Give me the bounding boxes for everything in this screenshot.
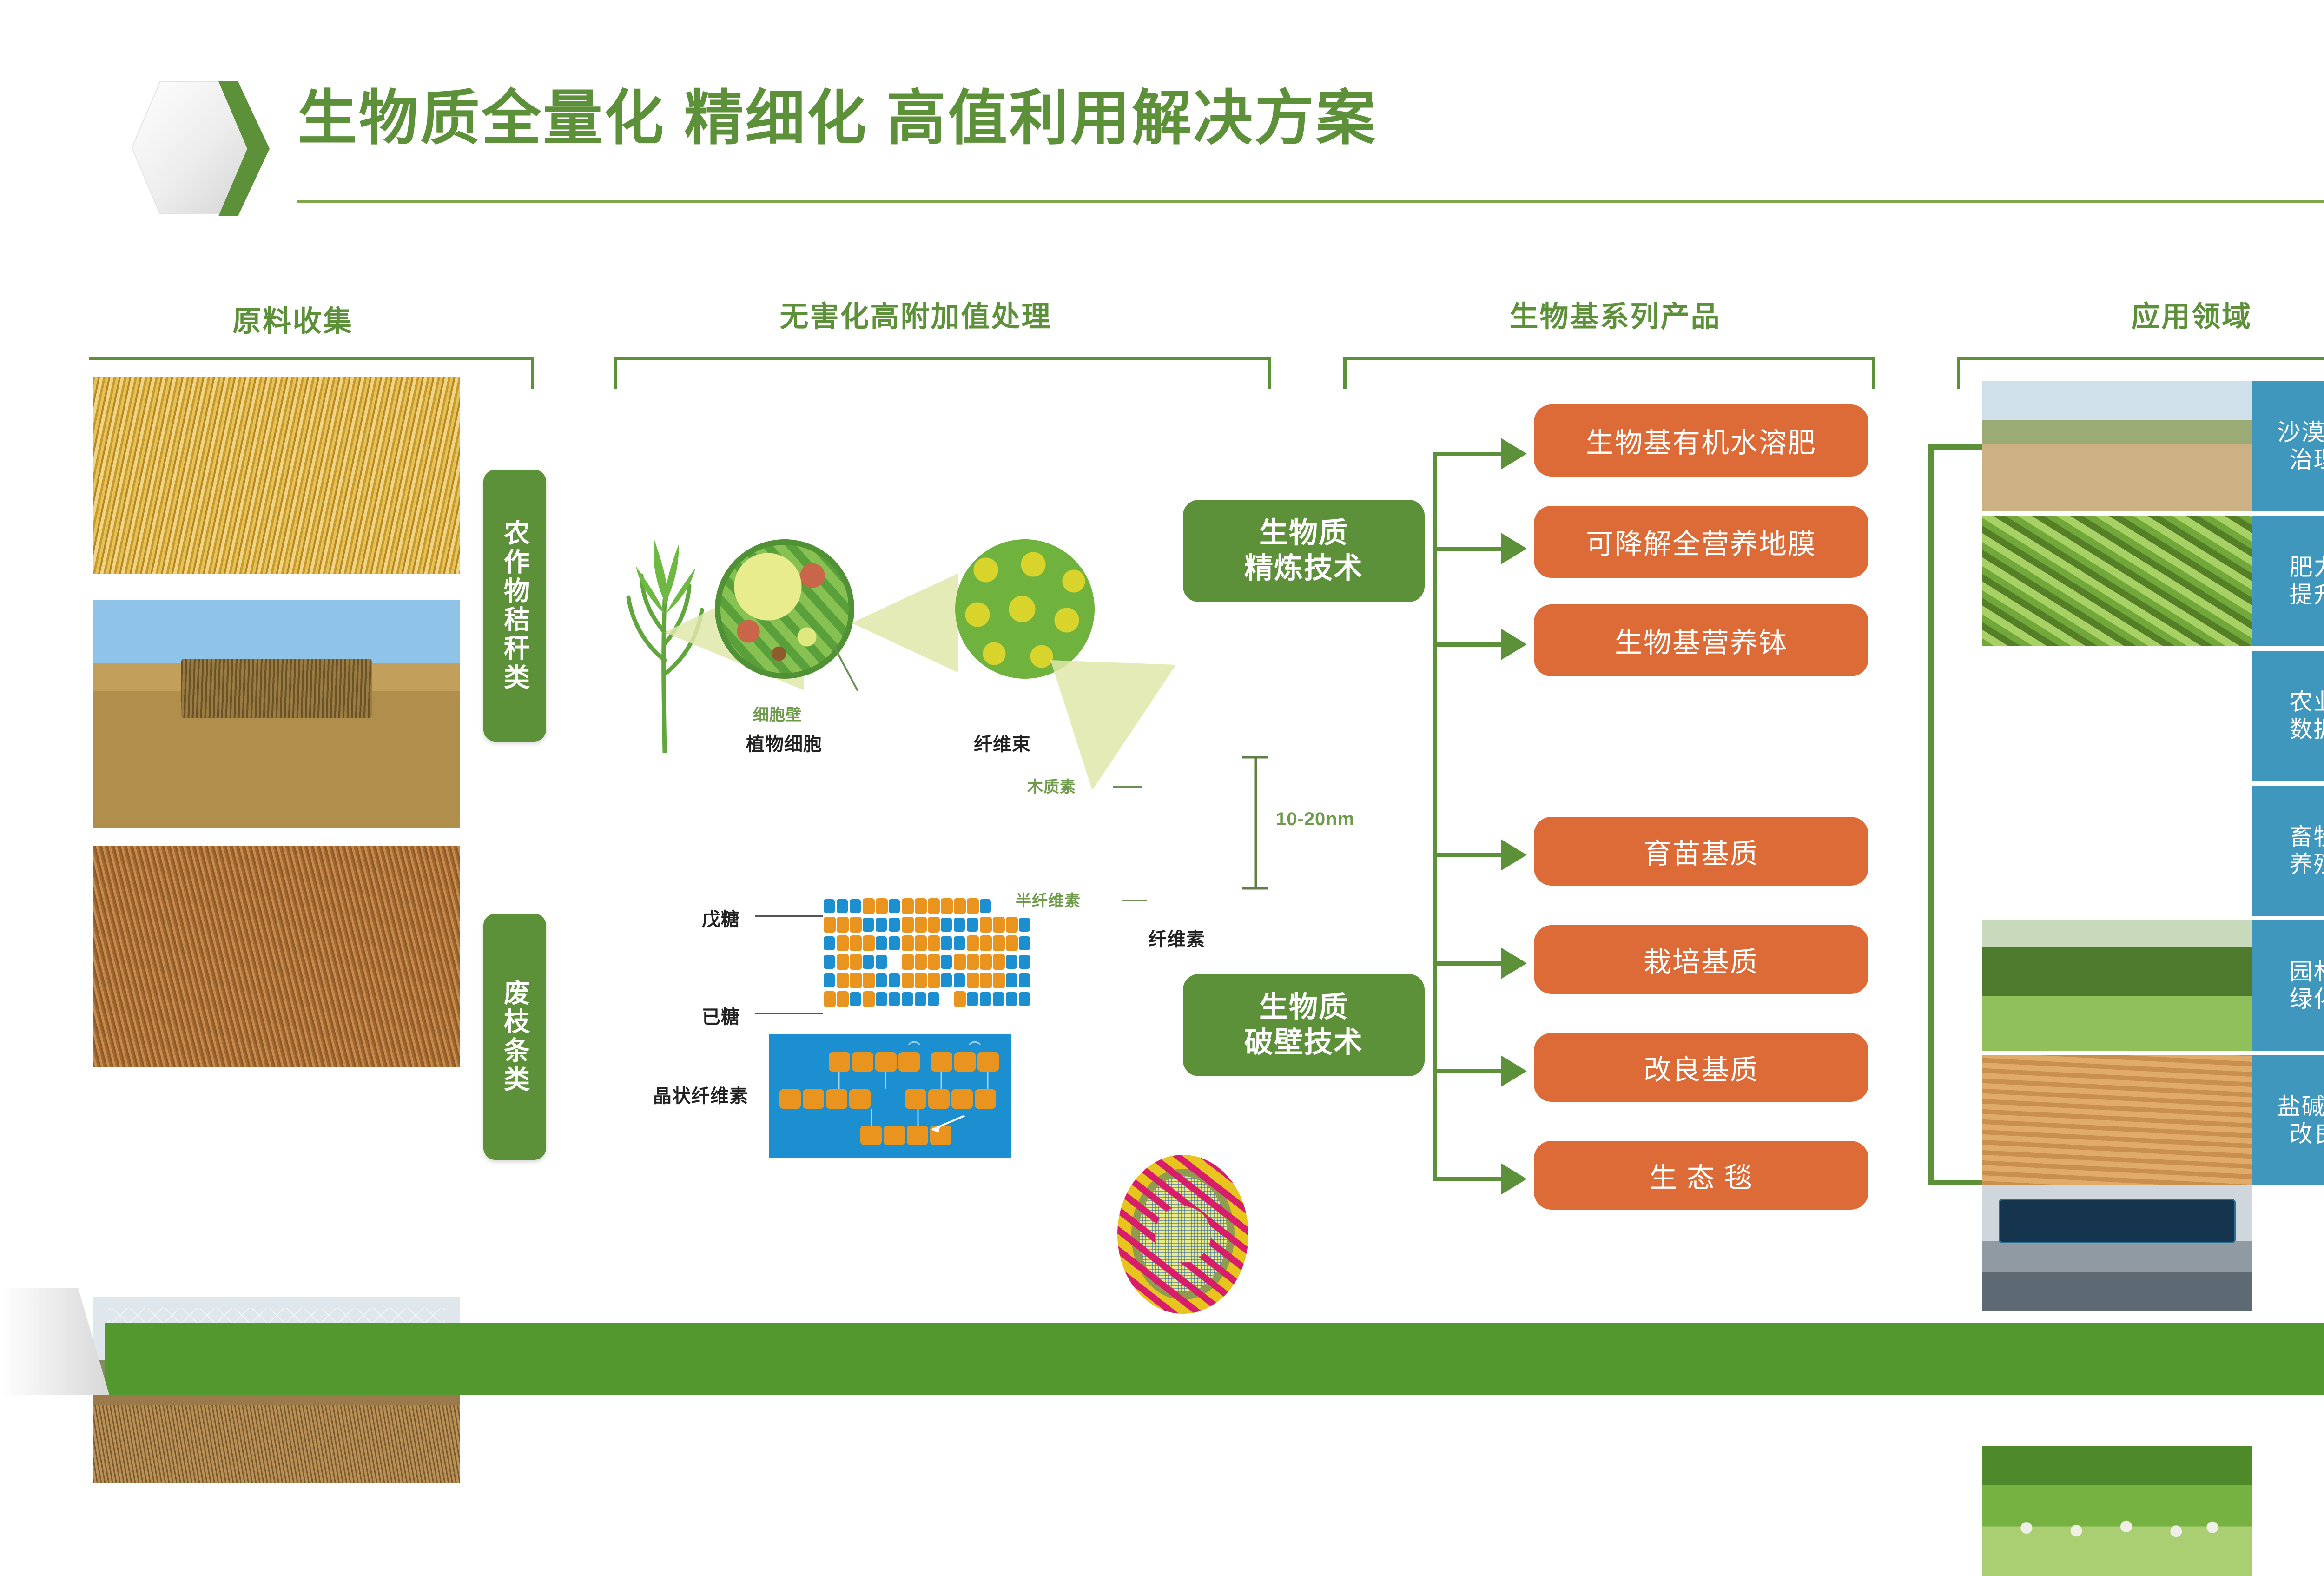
- feedstock-pill-label: 农作物秸秆类: [502, 519, 528, 692]
- application-label-fertility[interactable]: 肥力 提升: [2252, 516, 2324, 646]
- application-label-saline-improvement[interactable]: 盐碱地 改良: [2252, 1055, 2324, 1185]
- arrow-to-product-5: [1501, 947, 1527, 979]
- app-line2: 改良: [2290, 1121, 2324, 1147]
- app-line2: 数据: [2290, 716, 2324, 742]
- product-pill-ecological-blanket[interactable]: 生 态 毯: [1534, 1141, 1868, 1210]
- product-pill-water-soluble-fertilizer[interactable]: 生物基有机水溶肥: [1534, 404, 1868, 477]
- section-title-products: 生物基系列产品: [1394, 293, 1836, 335]
- tech-line2: 破壁技术: [1244, 1026, 1363, 1059]
- cabbage-field-photo: [1982, 516, 2252, 646]
- cellulose-label: 纤维素: [1148, 924, 1205, 951]
- landscape-greening-photo: [1982, 920, 2252, 1051]
- connector-branch-7: [1433, 1177, 1503, 1181]
- crystalline-cellulose-label: 晶状纤维素: [653, 1081, 748, 1108]
- connector-branch-3: [1433, 642, 1503, 647]
- product-pill-biodegradable-mulch-film[interactable]: 可降解全营养地膜: [1534, 506, 1868, 578]
- feedstock-pill-waste-branches[interactable]: 废枝条类: [483, 914, 546, 1160]
- app-line1: 园林: [2290, 959, 2324, 985]
- bracket-processing: [614, 357, 1271, 389]
- product-label: 改良基质: [1644, 1047, 1759, 1088]
- agri-data-center-photo: [1982, 1181, 2252, 1311]
- feedstock-pill-label: 废枝条类: [502, 979, 528, 1094]
- tech-line2: 精炼技术: [1244, 552, 1363, 584]
- pentose-leader-line: [755, 915, 823, 917]
- cell-wall-label: 细胞壁: [753, 702, 802, 725]
- product-label: 生物基营养钵: [1615, 620, 1788, 661]
- sugar-chain-diagram: [823, 897, 1046, 1032]
- fiber-bundle-label: 纤维束: [974, 729, 1031, 756]
- arrow-to-product-2: [1501, 533, 1527, 564]
- bracket-products: [1343, 357, 1875, 389]
- app-line2: 绿化: [2290, 986, 2324, 1012]
- footer-band: [105, 1323, 2324, 1395]
- tech-box-refining[interactable]: 生物质 精炼技术: [1183, 500, 1425, 602]
- cellulose-microfibril-illustration: [1139, 1176, 1227, 1292]
- section-title-applications: 应用领域: [2017, 293, 2324, 335]
- connector-trunk-refining: [1433, 452, 1437, 917]
- footer-wedge-icon: [0, 1269, 139, 1395]
- hemicellulose-leader-line: [1122, 900, 1147, 901]
- app-line1: 农业: [2290, 689, 2324, 715]
- pentose-label: 戊糖: [702, 904, 740, 931]
- section-title-collection: 原料收集: [153, 298, 432, 339]
- connector-branch-2: [1433, 547, 1503, 551]
- desert-control-photo: [1982, 381, 2252, 511]
- arrow-to-product-3: [1501, 629, 1527, 660]
- straw-bale-field-photo: [93, 600, 460, 828]
- app-line2: 提升: [2290, 582, 2324, 608]
- corn-straw-field-photo: [93, 377, 460, 574]
- title-underline: [297, 200, 2324, 203]
- crystalline-cellulose-diagram: [769, 1034, 1011, 1158]
- app-line2: 治理: [2290, 447, 2324, 473]
- application-label-agri-data[interactable]: 农业 数据: [2252, 651, 2324, 781]
- arrow-to-product-4: [1501, 839, 1527, 871]
- product-label: 可降解全营养地膜: [1586, 522, 1816, 562]
- product-pill-improvement-substrate[interactable]: 改良基质: [1534, 1033, 1868, 1102]
- app-line1: 盐碱地: [2278, 1093, 2324, 1119]
- page-title: 生物质全量化 精细化 高值利用解决方案: [297, 86, 1377, 152]
- app-line1: 沙漠化: [2278, 419, 2324, 445]
- lignin-label: 木质素: [1027, 774, 1076, 797]
- hexose-label: 已糖: [702, 1002, 740, 1029]
- product-pill-seedling-substrate[interactable]: 育苗基质: [1534, 817, 1868, 886]
- product-pill-cultivation-substrate[interactable]: 栽培基质: [1534, 925, 1868, 994]
- feedstock-pill-crop-straw[interactable]: 农作物秸秆类: [483, 470, 546, 742]
- chevron-right-icon: [218, 81, 270, 216]
- product-label: 栽培基质: [1644, 940, 1759, 980]
- connector-trunk-cellwall: [1433, 853, 1437, 1181]
- fiber-bundle-illustration: [955, 539, 1095, 679]
- tech-line1: 生物质: [1259, 991, 1348, 1023]
- connector-branch-5: [1433, 961, 1503, 966]
- application-label-desert-control[interactable]: 沙漠化 治理: [2252, 381, 2324, 511]
- app-line1: 肥力: [2290, 554, 2324, 580]
- product-label: 生 态 毯: [1649, 1155, 1753, 1196]
- app-line2: 养殖: [2290, 851, 2324, 877]
- plant-cell-label: 植物细胞: [746, 729, 822, 756]
- application-label-livestock[interactable]: 畜牧 养殖: [2252, 786, 2324, 916]
- tech-box-cellwall[interactable]: 生物质 破壁技术: [1183, 974, 1425, 1076]
- hexose-leader-line: [755, 1013, 823, 1014]
- connector-branch-4: [1433, 853, 1503, 857]
- arrow-to-product-1: [1501, 438, 1527, 470]
- scale-bar-icon: [1242, 755, 1270, 890]
- product-pill-nutrition-pot[interactable]: 生物基营养钵: [1534, 604, 1868, 676]
- arrow-to-product-6: [1501, 1055, 1527, 1087]
- lignin-leader-line: [1113, 786, 1142, 788]
- section-title-processing: 无害化高附加值处理: [660, 293, 1171, 335]
- arrow-to-product-7: [1501, 1163, 1527, 1195]
- applications-bracket-spine: [1928, 444, 1934, 1185]
- plant-cell-illustration: [715, 539, 854, 679]
- grazing-sheep-photo: [1982, 1446, 2252, 1576]
- application-label-landscaping[interactable]: 园林 绿化: [2252, 920, 2324, 1051]
- dry-branches-photo: [93, 846, 460, 1067]
- product-label: 育苗基质: [1644, 831, 1759, 872]
- connector-branch-1: [1433, 452, 1503, 456]
- product-label: 生物基有机水溶肥: [1586, 420, 1816, 461]
- app-line1: 畜牧: [2290, 824, 2324, 850]
- connector-branch-6: [1433, 1069, 1503, 1073]
- zoom-cone-2: [852, 565, 968, 681]
- scale-label: 10-20nm: [1276, 809, 1354, 830]
- saline-land-photo: [1982, 1055, 2252, 1185]
- tech-line1: 生物质: [1259, 517, 1348, 549]
